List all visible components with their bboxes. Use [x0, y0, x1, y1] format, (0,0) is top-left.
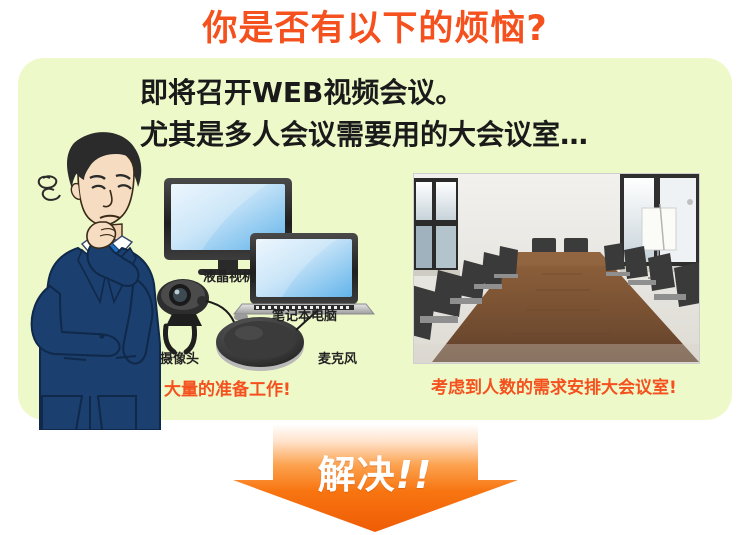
label-lcd-tv: 液晶视机 [203, 266, 255, 285]
caption-right: 考虑到人数的需求安排大会议室! [431, 373, 677, 398]
conference-room-photo [413, 173, 700, 364]
arrow-label: 解决!! [0, 444, 750, 499]
arrow-label-main: 解决 [318, 453, 396, 497]
panel-line-2: 尤其是多人会议需要用的大会议室… [140, 114, 740, 156]
worry-squiggle-icon [39, 176, 60, 200]
label-microphone: 麦克风 [318, 348, 357, 367]
panel-text-block: 即将召开WEB视频会议。 尤其是多人会议需要用的大会议室… [140, 72, 740, 156]
page-title: 你是否有以下的烦恼? [0, 8, 750, 50]
poster-canvas: 你是否有以下的烦恼? 即将召开WEB视频会议。 尤其是多人会议需要用的大会议室… [0, 0, 750, 535]
label-webcam: 摄像头 [160, 348, 199, 367]
label-laptop: 笔记本电脑 [272, 305, 337, 324]
arrow-label-marks: !! [396, 453, 433, 497]
caption-left: 大量的准备工作! [164, 375, 291, 400]
panel-line-1: 即将召开WEB视频会议。 [140, 72, 740, 114]
